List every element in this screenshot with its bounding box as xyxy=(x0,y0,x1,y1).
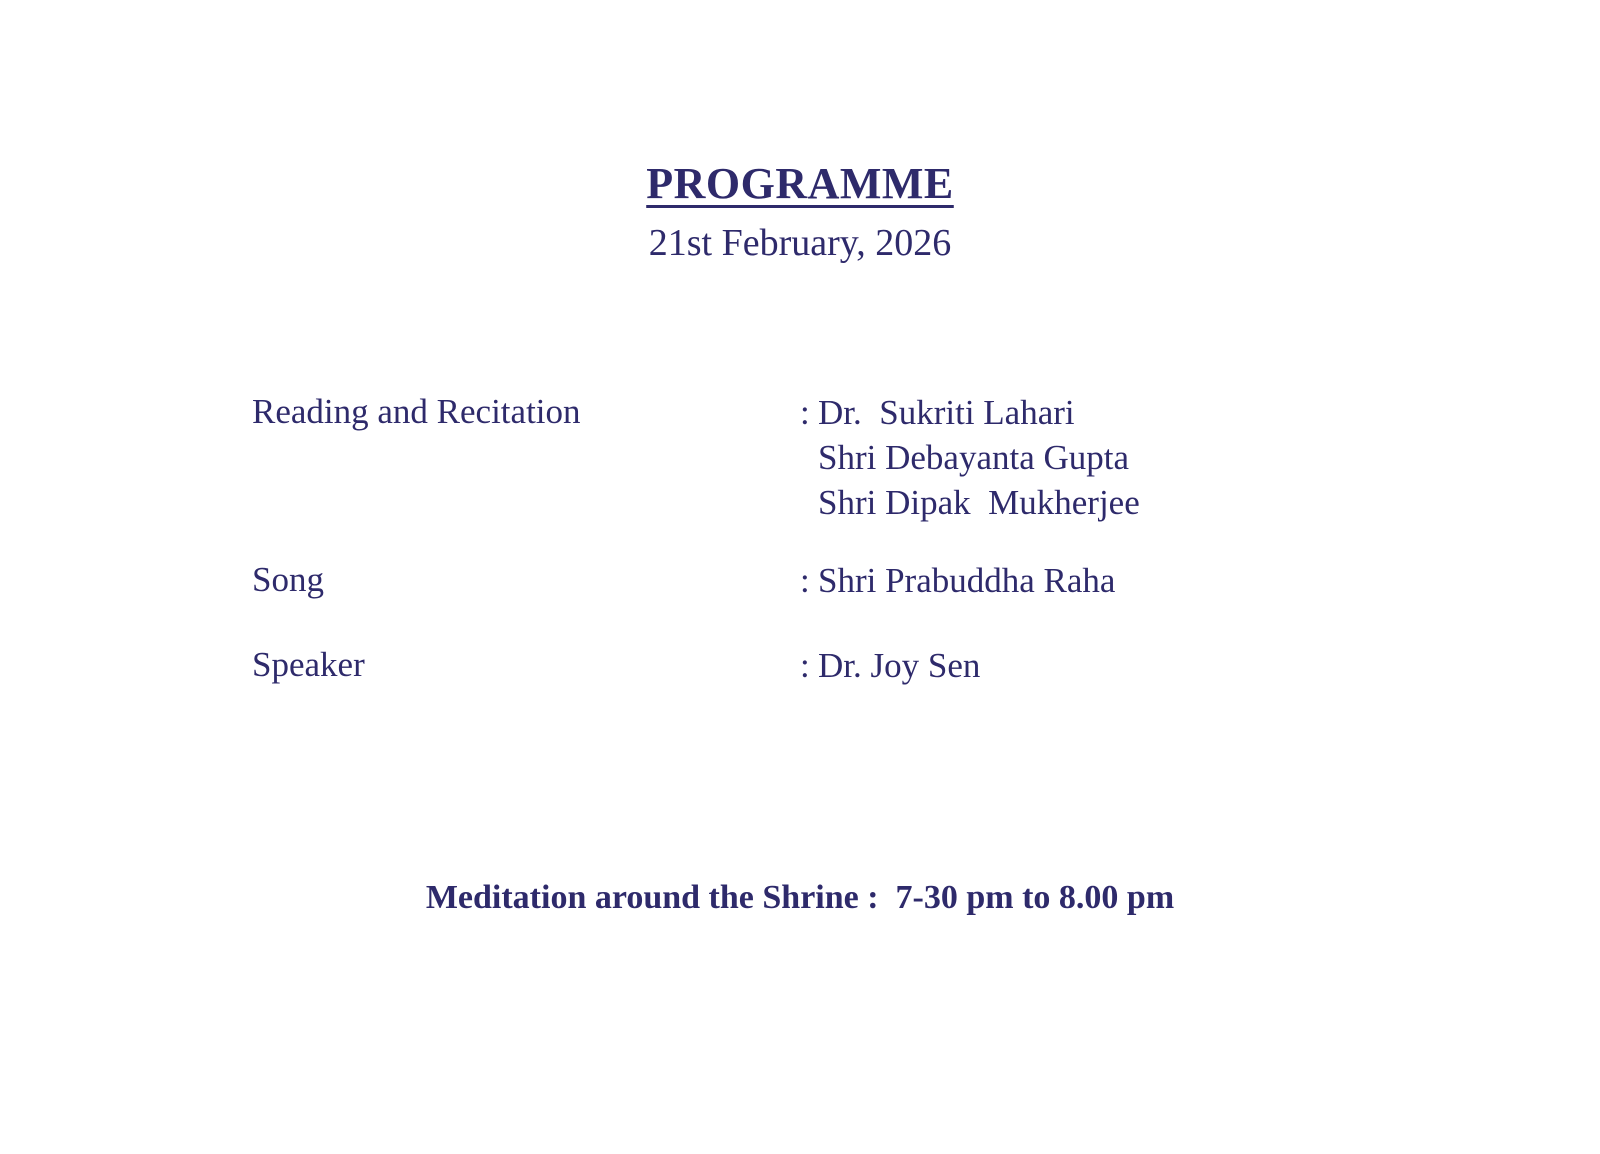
programme-date: 21st February, 2026 xyxy=(0,222,1600,266)
programme-value-text: Dr. Sukriti Lahari xyxy=(818,393,1075,432)
programme-value-line: :Dr. Joy Sen xyxy=(800,643,1352,688)
programme-row-label: Speaker xyxy=(252,643,800,687)
programme-value-text: Shri Prabuddha Raha xyxy=(818,561,1115,600)
separator-colon: : xyxy=(800,390,818,435)
document-header: PROGRAMME 21st February, 2026 xyxy=(0,160,1600,266)
separator-colon: : xyxy=(800,558,818,603)
programme-value-line: :Shri Prabuddha Raha xyxy=(800,558,1352,603)
programme-row-song: Song :Shri Prabuddha Raha xyxy=(252,558,1352,603)
programme-value-text: Shri Debayanta Gupta xyxy=(818,438,1129,477)
programme-row-speaker: Speaker :Dr. Joy Sen xyxy=(252,643,1352,688)
separator-colon: : xyxy=(800,643,818,688)
programme-value-text: Shri Dipak Mukherjee xyxy=(818,483,1140,522)
document-page: PROGRAMME 21st February, 2026 Reading an… xyxy=(0,0,1600,1154)
programme-row-values: :Dr. Joy Sen xyxy=(800,643,1352,688)
programme-list: Reading and Recitation :Dr. Sukriti Laha… xyxy=(252,390,1352,688)
programme-row-label: Reading and Recitation xyxy=(252,390,800,434)
programme-value-line: Shri Dipak Mukherjee xyxy=(800,480,1352,525)
programme-value-line: :Dr. Sukriti Lahari xyxy=(800,390,1352,435)
programme-value-line: Shri Debayanta Gupta xyxy=(800,435,1352,480)
programme-row-label: Song xyxy=(252,558,800,602)
programme-row-values: :Dr. Sukriti Lahari Shri Debayanta Gupta… xyxy=(800,390,1352,525)
page-title: PROGRAMME xyxy=(0,160,1600,208)
programme-row-reading-and-recitation: Reading and Recitation :Dr. Sukriti Laha… xyxy=(252,390,1352,525)
programme-row-values: :Shri Prabuddha Raha xyxy=(800,558,1352,603)
programme-value-text: Dr. Joy Sen xyxy=(818,646,980,685)
page-title-text: PROGRAMME xyxy=(646,159,954,208)
meditation-note: Meditation around the Shrine : 7-30 pm t… xyxy=(0,878,1600,919)
